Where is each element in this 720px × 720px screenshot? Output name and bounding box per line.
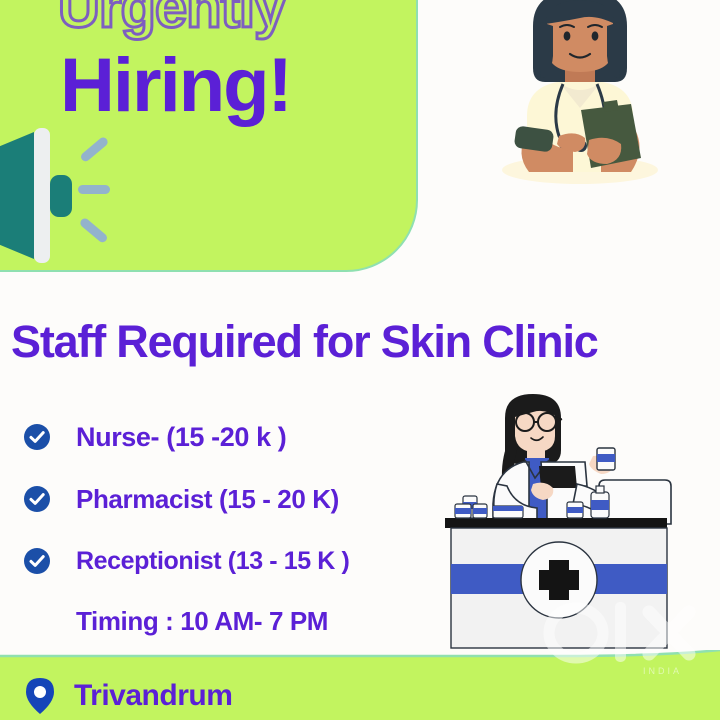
- olx-watermark: INDIA: [543, 600, 715, 678]
- list-item: Nurse- (15 -20 k ): [24, 406, 454, 468]
- location-row: Trivandrum: [26, 678, 232, 714]
- nurse-illustration: [455, 0, 705, 226]
- banner-title-text: Hiring!: [60, 48, 291, 124]
- list-item: Receptionist (13 - 15 K ): [24, 530, 454, 592]
- page-title: Staff Required for Skin Clinic: [11, 316, 598, 368]
- check-circle-icon: [24, 424, 50, 450]
- location-label: Trivandrum: [74, 679, 232, 713]
- job-title-pharmacist: Pharmacist (15 - 20 K): [76, 484, 339, 515]
- megaphone-icon: [0, 128, 116, 263]
- job-title-nurse: Nurse- (15 -20 k ): [76, 422, 286, 453]
- list-item: Pharmacist (15 - 20 K): [24, 468, 454, 530]
- job-poster: Urgently Hiring!: [0, 0, 720, 720]
- map-pin-icon: [26, 678, 54, 714]
- job-title-receptionist: Receptionist (13 - 15 K ): [76, 547, 349, 576]
- job-list: Nurse- (15 -20 k ) Pharmacist (15 - 20 K…: [24, 406, 454, 592]
- banner-kicker-text: Urgently: [58, 0, 285, 41]
- timing-text: Timing : 10 AM- 7 PM: [76, 606, 328, 637]
- olx-watermark-region: INDIA: [643, 666, 682, 676]
- check-circle-icon: [24, 486, 50, 512]
- check-circle-icon: [24, 548, 50, 574]
